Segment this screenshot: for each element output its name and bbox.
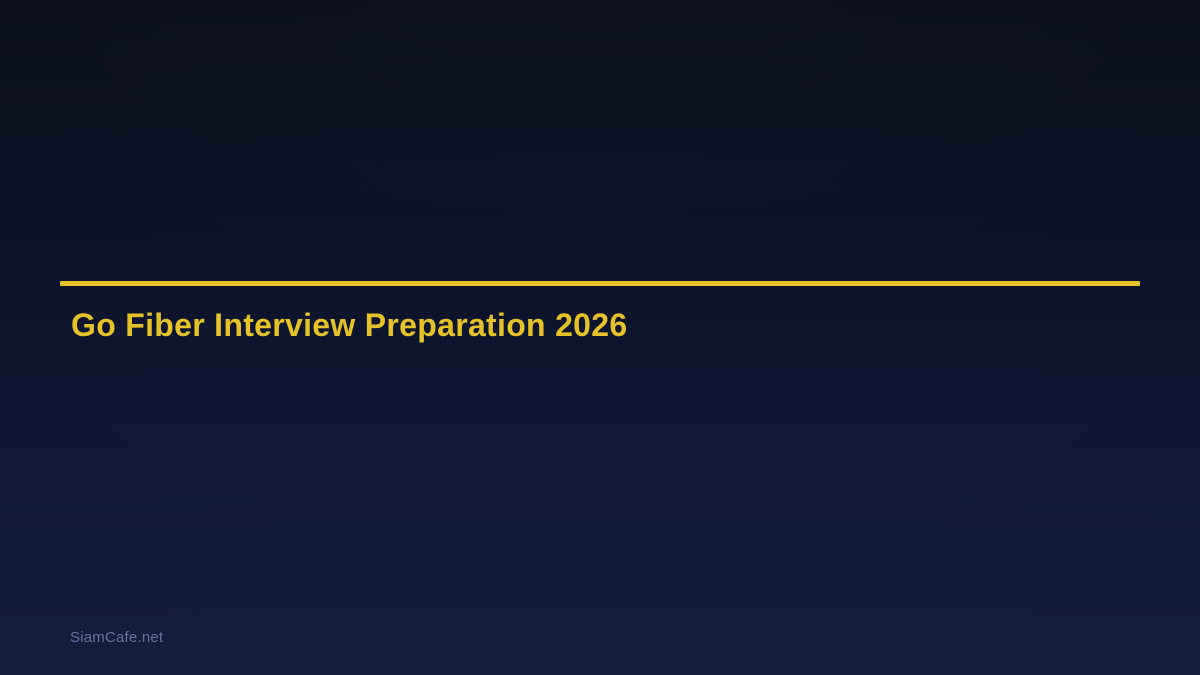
title-block: Go Fiber Interview Preparation 2026 [60,281,1140,344]
title-slide: Go Fiber Interview Preparation 2026 Siam… [0,0,1200,675]
footer-attribution-text: SiamCafe.net [70,629,163,646]
slide-footer: SiamCafe.net [70,629,163,647]
page-title: Go Fiber Interview Preparation 2026 [60,286,1140,344]
